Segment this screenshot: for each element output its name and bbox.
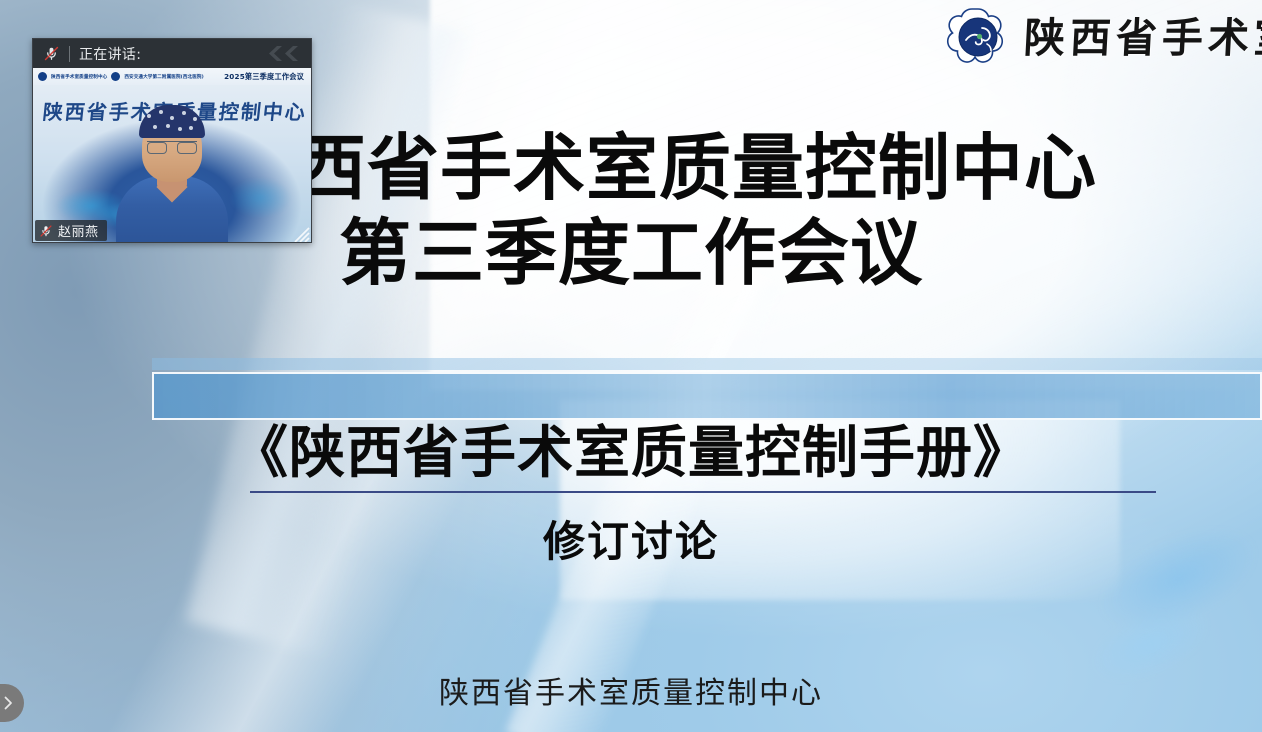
resize-grip-icon[interactable] bbox=[288, 221, 310, 243]
virtual-bg-meeting-title: 2025第三季度工作会议 bbox=[224, 72, 306, 82]
mic-off-icon[interactable] bbox=[43, 45, 60, 62]
org-seal-icon bbox=[946, 6, 1010, 70]
participant-video-feed[interactable]: 陕西省手术室质量控制中心 西安交通大学第二附属医院(西北医院) 2025第三季度… bbox=[33, 68, 311, 243]
presenter-glasses bbox=[147, 141, 197, 152]
participant-name: 赵丽燕 bbox=[58, 221, 99, 240]
titlebar-divider bbox=[69, 46, 70, 62]
presentation-viewer: 陕西省手术室质量 陕西省手术室质量控制中心 第三季度工作会议 《陕西省手术室质量… bbox=[0, 0, 1262, 732]
participant-name-badge: 赵丽燕 bbox=[35, 220, 107, 241]
brand-name-text: 陕西省手术室质量 bbox=[1023, 18, 1262, 59]
virtual-background-header: 陕西省手术室质量控制中心 西安交通大学第二附属医院(西北医院) 2025第三季度… bbox=[33, 68, 311, 85]
virtual-bg-logo-1-icon bbox=[38, 72, 47, 81]
participant-video-panel[interactable]: 正在讲话: 陕西省手术室质量控制中心 西安交通大学第二附属医院(西北医院) 20… bbox=[32, 38, 312, 243]
mic-off-icon[interactable] bbox=[39, 224, 53, 238]
chevron-right-icon bbox=[1, 695, 15, 711]
video-panel-titlebar[interactable]: 正在讲话: bbox=[33, 39, 311, 68]
double-chevron-icon[interactable] bbox=[265, 42, 305, 65]
brand-lockup: 陕西省手术室质量 bbox=[946, 6, 1262, 70]
speaking-status-label: 正在讲话: bbox=[79, 44, 141, 64]
virtual-bg-org-1: 陕西省手术室质量控制中心 bbox=[51, 74, 107, 80]
virtual-bg-logo-2-icon bbox=[111, 72, 120, 81]
virtual-bg-org-2: 西安交通大学第二附属医院(西北医院) bbox=[124, 74, 204, 80]
